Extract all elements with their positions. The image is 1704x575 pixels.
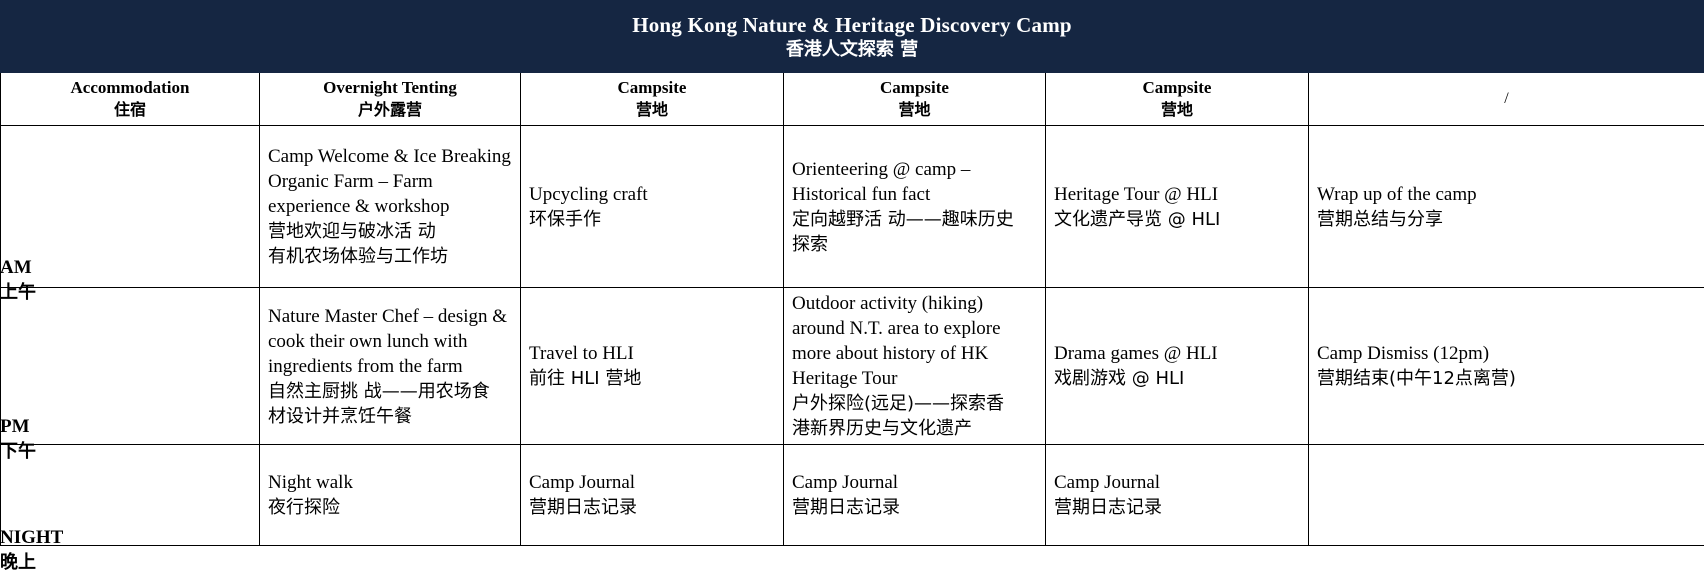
cell-am-campsite-2: Orienteering @ camp – Historical fun fac…: [784, 126, 1046, 288]
cell-pm-last-zh: 营期结束(中午12点离营): [1317, 366, 1698, 391]
table-row: Nature Master Chef – design & cook their…: [1, 288, 1704, 445]
column-header-overnight-tenting-en: Overnight Tenting: [260, 77, 520, 99]
column-header-overnight-tenting-zh: 户外露营: [260, 99, 520, 121]
cell-night-campsite-3-en: Camp Journal: [1054, 470, 1302, 495]
row-label-night-zh: 晚上: [0, 550, 250, 575]
column-header-accommodation-en: Accommodation: [1, 77, 259, 99]
cell-night-campsite-2: Camp Journal 营期日志记录: [784, 445, 1046, 546]
cell-night-campsite-1-zh: 营期日志记录: [529, 495, 777, 520]
column-header-campsite-3-en: Campsite: [1046, 77, 1308, 99]
cell-night-campsite-2-zh: 营期日志记录: [792, 495, 1039, 520]
cell-night-accommodation: [1, 445, 260, 546]
banner-title-chinese: 香港人文探索 营: [786, 38, 918, 62]
cell-night-campsite-3: Camp Journal 营期日志记录: [1046, 445, 1309, 546]
column-header-overnight-tenting: Overnight Tenting 户外露营: [260, 73, 521, 126]
column-header-campsite-1-zh: 营地: [521, 99, 783, 121]
cell-night-last: [1309, 445, 1704, 546]
column-header-campsite-1: Campsite 营地: [521, 73, 784, 126]
cell-pm-campsite-3-en: Drama games @ HLI: [1054, 341, 1302, 366]
cell-pm-last: Camp Dismiss (12pm) 营期结束(中午12点离营): [1309, 288, 1704, 445]
column-header-campsite-3-zh: 营地: [1046, 99, 1308, 121]
column-header-blank-slash: /: [1309, 77, 1704, 121]
cell-am-overnight-tenting-zh: 营地欢迎与破冰活 动 有机农场体验与工作坊: [268, 219, 514, 269]
cell-pm-campsite-2-zh: 户外探险(远足)——探索香 港新界历史与文化遗产: [792, 391, 1039, 441]
cell-am-campsite-1: Upcycling craft 环保手作: [521, 126, 784, 288]
cell-am-campsite-3-zh: 文化遗产导览 @ HLI: [1054, 207, 1302, 232]
cell-pm-campsite-3-zh: 戏剧游戏 @ HLI: [1054, 366, 1302, 391]
table-row: Night walk 夜行探险 Camp Journal 营期日志记录 Camp…: [1, 445, 1704, 546]
cell-night-overnight-tenting-zh: 夜行探险: [268, 495, 514, 520]
cell-am-last-en: Wrap up of the camp: [1317, 182, 1698, 207]
banner-title-english: Hong Kong Nature & Heritage Discovery Ca…: [632, 12, 1072, 38]
cell-am-campsite-1-zh: 环保手作: [529, 207, 777, 232]
cell-night-campsite-1-en: Camp Journal: [529, 470, 777, 495]
cell-pm-accommodation: [1, 288, 260, 445]
cell-night-overnight-tenting-en: Night walk: [268, 470, 514, 495]
column-header-accommodation: Accommodation 住宿: [1, 73, 260, 126]
column-header-campsite-2: Campsite 营地: [784, 73, 1046, 126]
cell-pm-overnight-tenting-en: Nature Master Chef – design & cook their…: [268, 304, 514, 379]
cell-am-overnight-tenting-en: Camp Welcome & Ice Breaking Organic Farm…: [268, 144, 514, 219]
cell-pm-overnight-tenting-zh: 自然主厨挑 战——用农场食 材设计并烹饪午餐: [268, 379, 514, 429]
column-header-campsite-1-en: Campsite: [521, 77, 783, 99]
cell-night-campsite-1: Camp Journal 营期日志记录: [521, 445, 784, 546]
cell-am-campsite-3: Heritage Tour @ HLI 文化遗产导览 @ HLI: [1046, 126, 1309, 288]
cell-pm-campsite-1-en: Travel to HLI: [529, 341, 777, 366]
cell-am-overnight-tenting: Camp Welcome & Ice Breaking Organic Farm…: [260, 126, 521, 288]
title-banner: Hong Kong Nature & Heritage Discovery Ca…: [0, 0, 1704, 73]
table-row: Camp Welcome & Ice Breaking Organic Farm…: [1, 126, 1704, 288]
cell-am-accommodation: [1, 126, 260, 288]
column-header-campsite-2-en: Campsite: [784, 77, 1045, 99]
column-header-campsite-3: Campsite 营地: [1046, 73, 1309, 126]
table-header-row: Accommodation 住宿 Overnight Tenting 户外露营 …: [1, 73, 1704, 126]
cell-pm-last-en: Camp Dismiss (12pm): [1317, 341, 1698, 366]
cell-night-overnight-tenting: Night walk 夜行探险: [260, 445, 521, 546]
cell-am-last-zh: 营期总结与分享: [1317, 207, 1698, 232]
column-header-accommodation-zh: 住宿: [1, 99, 259, 121]
cell-am-campsite-3-en: Heritage Tour @ HLI: [1054, 182, 1302, 207]
column-header-campsite-2-zh: 营地: [784, 99, 1045, 121]
camp-schedule-table: Accommodation 住宿 Overnight Tenting 户外露营 …: [0, 73, 1704, 546]
cell-pm-campsite-2: Outdoor activity (hiking) around N.T. ar…: [784, 288, 1046, 445]
column-header-blank: /: [1309, 73, 1704, 126]
cell-night-campsite-2-en: Camp Journal: [792, 470, 1039, 495]
schedule-sheet: Hong Kong Nature & Heritage Discovery Ca…: [0, 0, 1704, 543]
cell-pm-campsite-1-zh: 前往 HLI 营地: [529, 366, 777, 391]
cell-pm-campsite-2-en: Outdoor activity (hiking) around N.T. ar…: [792, 291, 1039, 391]
cell-am-last: Wrap up of the camp 营期总结与分享: [1309, 126, 1704, 288]
cell-pm-campsite-3: Drama games @ HLI 戏剧游戏 @ HLI: [1046, 288, 1309, 445]
cell-pm-overnight-tenting: Nature Master Chef – design & cook their…: [260, 288, 521, 445]
cell-night-campsite-3-zh: 营期日志记录: [1054, 495, 1302, 520]
cell-pm-campsite-1: Travel to HLI 前往 HLI 营地: [521, 288, 784, 445]
cell-am-campsite-2-en: Orienteering @ camp – Historical fun fac…: [792, 157, 1039, 207]
cell-am-campsite-2-zh: 定向越野活 动——趣味历史 探索: [792, 207, 1039, 257]
cell-am-campsite-1-en: Upcycling craft: [529, 182, 777, 207]
